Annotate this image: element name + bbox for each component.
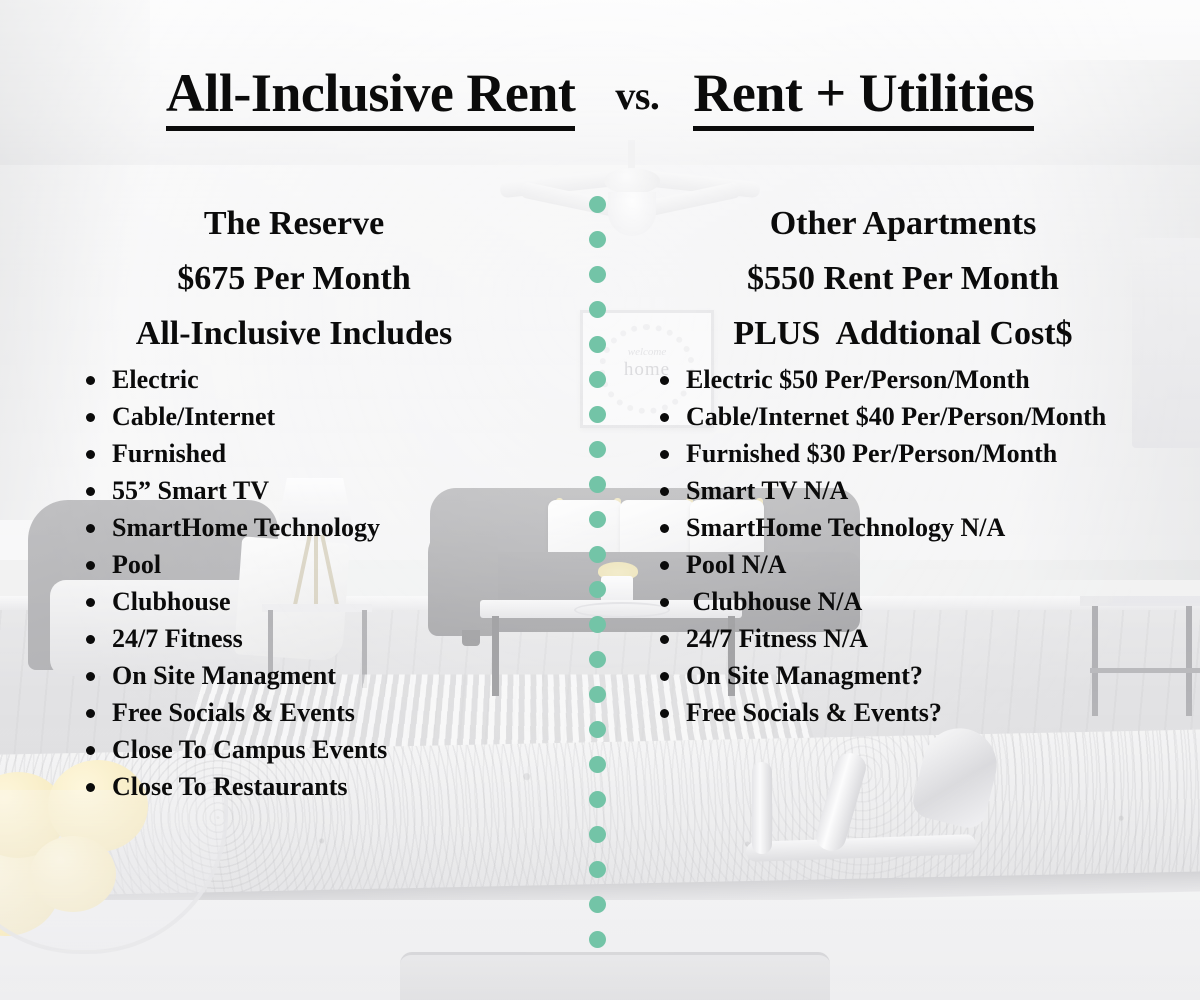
- list-item: Clubhouse N/A: [658, 583, 1200, 620]
- list-item: Close To Restaurants: [84, 768, 588, 805]
- headline-right: Rent + Utilities: [693, 62, 1034, 131]
- left-column-title: The Reserve: [0, 196, 588, 251]
- list-item: Free Socials & Events: [84, 694, 588, 731]
- list-item: Pool: [84, 546, 588, 583]
- left-column-price: $675 Per Month: [0, 251, 588, 306]
- list-item: Electric: [84, 361, 588, 398]
- left-column-feature-list: ElectricCable/InternetFurnished55” Smart…: [84, 361, 588, 805]
- list-item: Smart TV N/A: [658, 472, 1200, 509]
- comparison-poster: welcome home: [0, 0, 1200, 1000]
- page-title: All-Inclusive Rent vs. Rent + Utilities: [0, 62, 1200, 131]
- right-column-title: Other Apartments: [606, 196, 1200, 251]
- headline-versus: vs.: [575, 72, 693, 119]
- right-column: Other Apartments $550 Rent Per Month PLU…: [606, 196, 1200, 731]
- list-item: 55” Smart TV: [84, 472, 588, 509]
- list-item: Cable/Internet: [84, 398, 588, 435]
- list-item: Close To Campus Events: [84, 731, 588, 768]
- list-item: Furnished $30 Per/Person/Month: [658, 435, 1200, 472]
- right-column-subtitle: PLUS Addtional Cost$: [606, 306, 1200, 361]
- list-item: On Site Managment: [84, 657, 588, 694]
- right-column-feature-list: Electric $50 Per/Person/MonthCable/Inter…: [658, 361, 1200, 731]
- list-item: Pool N/A: [658, 546, 1200, 583]
- poster-content: All-Inclusive Rent vs. Rent + Utilities …: [0, 0, 1200, 1000]
- headline-left: All-Inclusive Rent: [166, 62, 576, 131]
- right-column-price: $550 Rent Per Month: [606, 251, 1200, 306]
- list-item: Clubhouse: [84, 583, 588, 620]
- left-column: The Reserve $675 Per Month All-Inclusive…: [0, 196, 588, 805]
- list-item: On Site Managment?: [658, 657, 1200, 694]
- list-item: 24/7 Fitness: [84, 620, 588, 657]
- list-item: SmartHome Technology N/A: [658, 509, 1200, 546]
- list-item: SmartHome Technology: [84, 509, 588, 546]
- list-item: Electric $50 Per/Person/Month: [658, 361, 1200, 398]
- list-item: 24/7 Fitness N/A: [658, 620, 1200, 657]
- list-item: Furnished: [84, 435, 588, 472]
- list-item: Free Socials & Events?: [658, 694, 1200, 731]
- list-item: Cable/Internet $40 Per/Person/Month: [658, 398, 1200, 435]
- left-column-subtitle: All-Inclusive Includes: [0, 306, 588, 361]
